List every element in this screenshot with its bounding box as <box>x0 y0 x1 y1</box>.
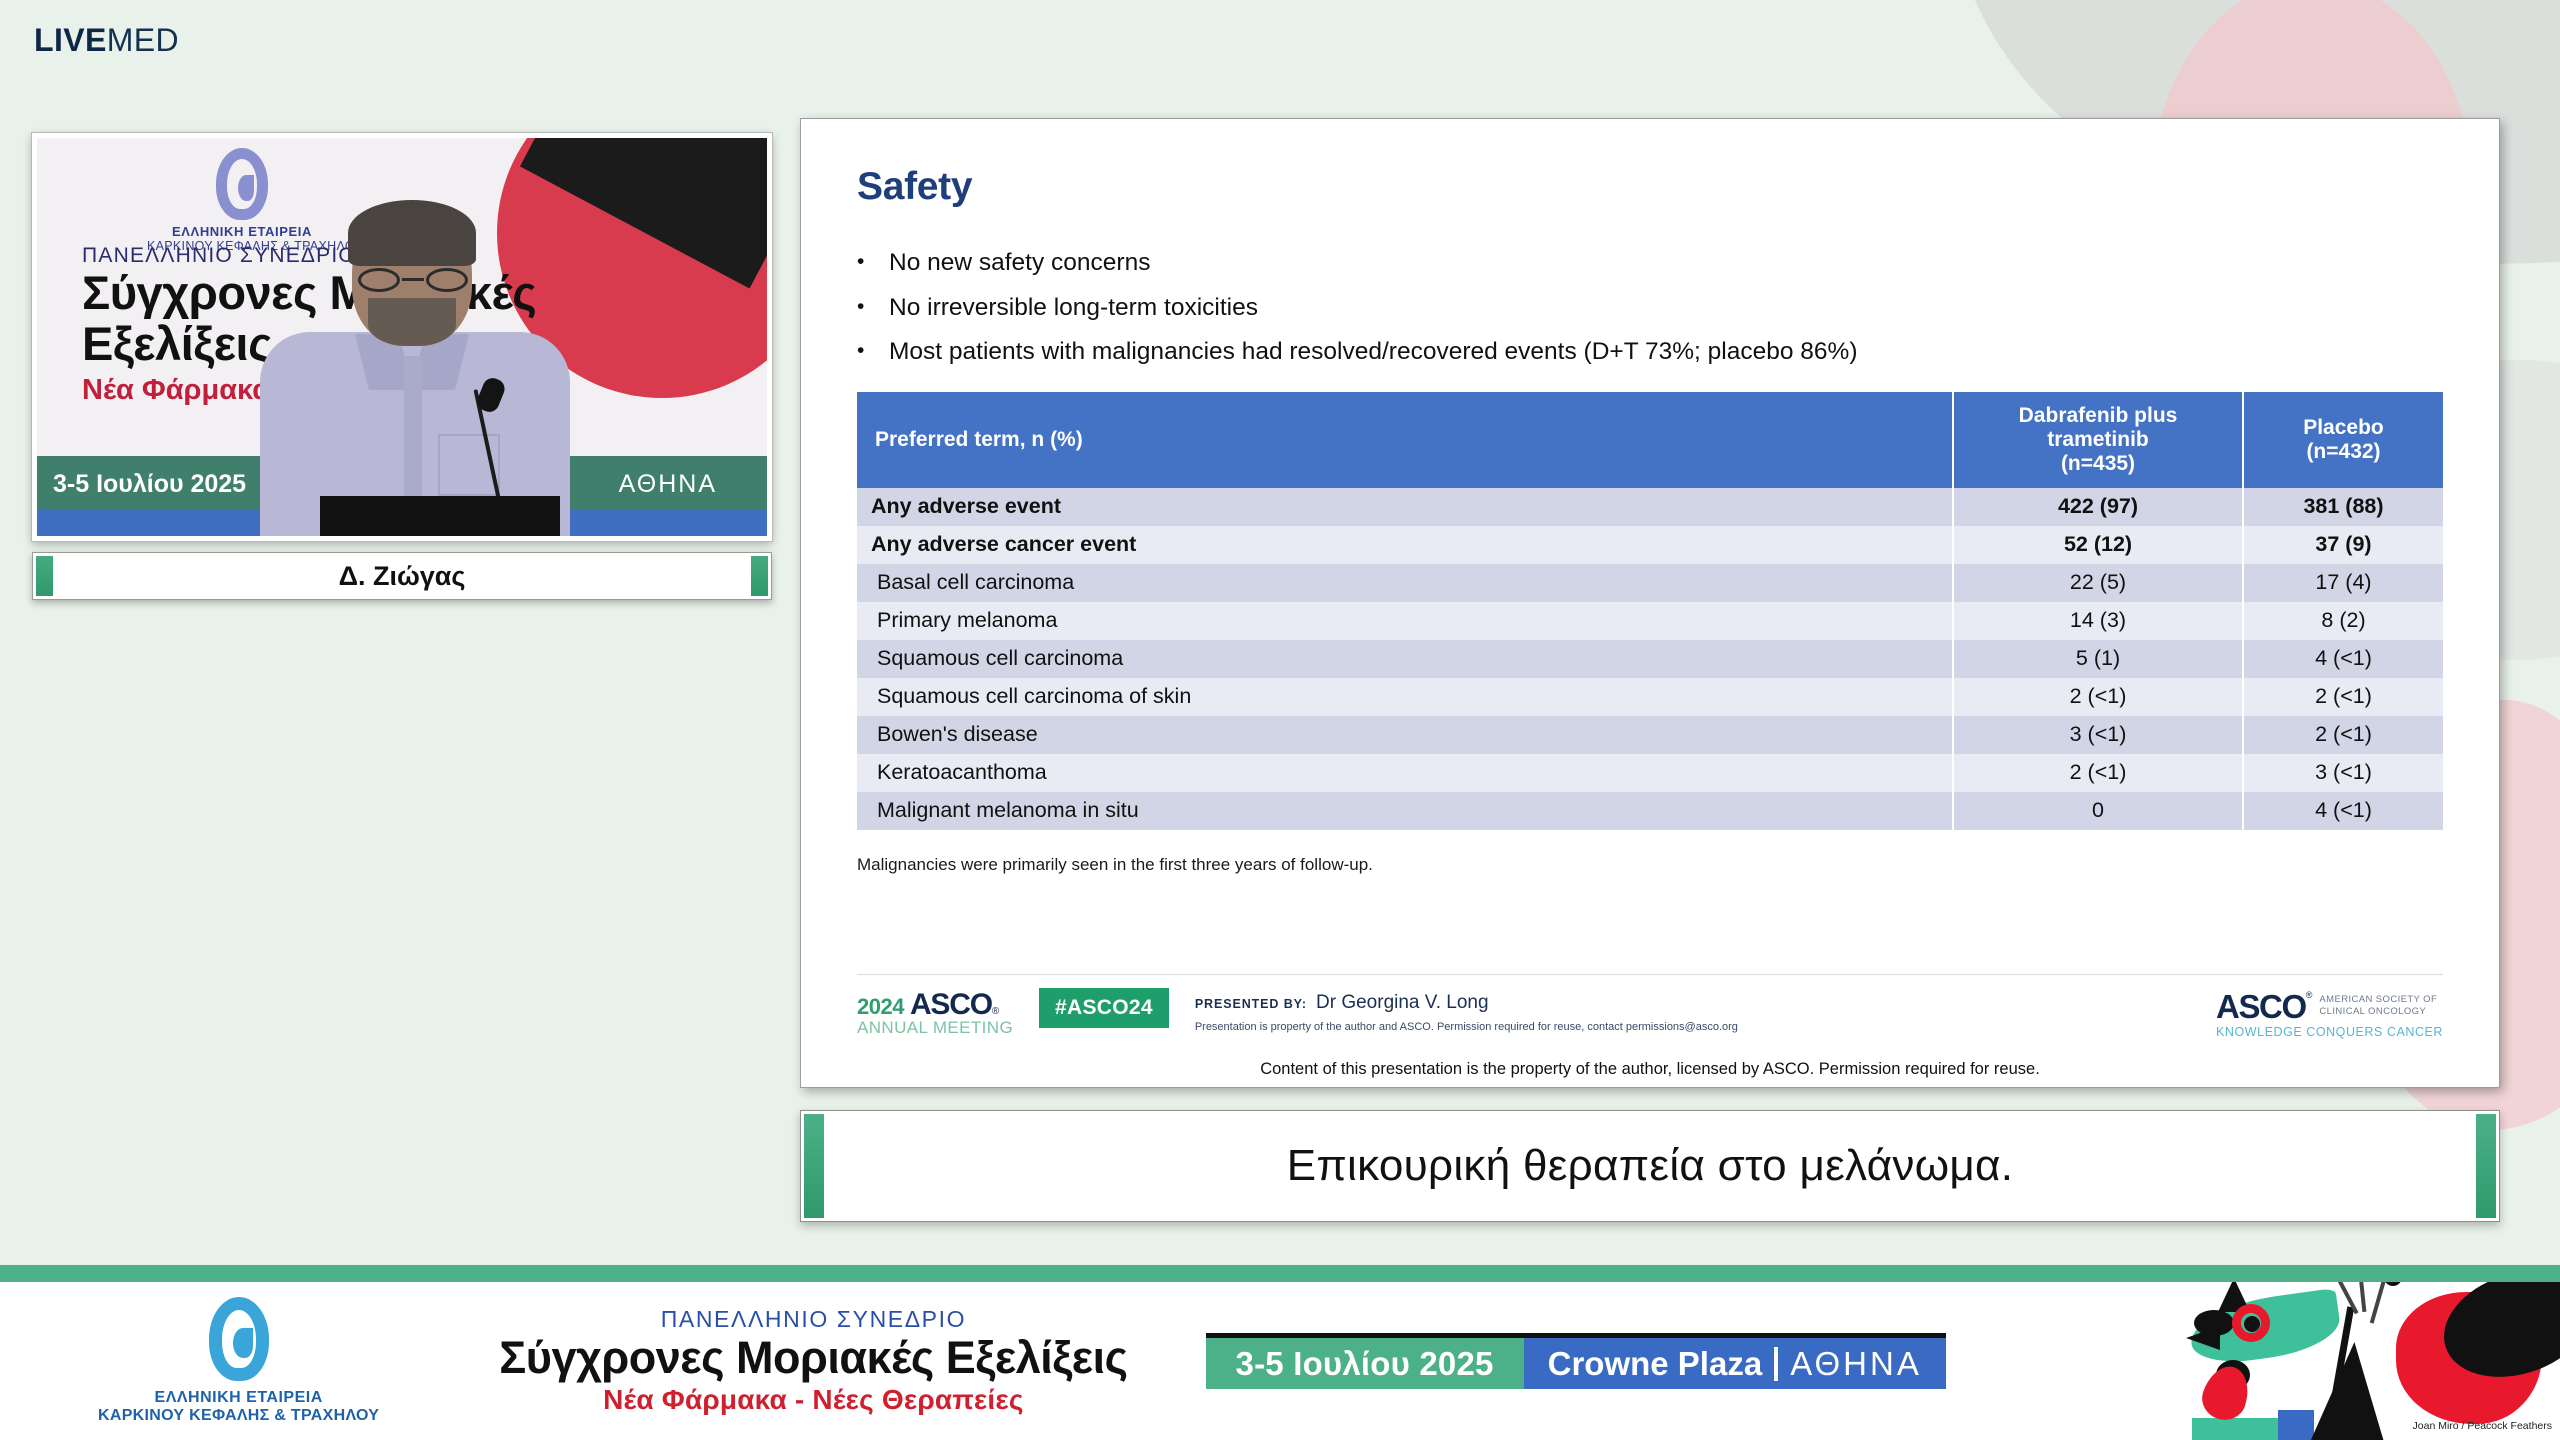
banner-date: 3-5 Ιουλίου 2025 <box>1206 1338 1524 1389</box>
safety-table-body: Any adverse event422 (97)381 (88)Any adv… <box>857 488 2443 830</box>
artwork-antenna <box>2370 1282 2387 1324</box>
session-caption-bar: Επικουρική θεραπεία στο μελάνωμα. <box>800 1110 2500 1222</box>
artwork-antenna <box>2358 1282 2367 1312</box>
speaker-name-accent-left <box>36 556 53 596</box>
table-cell-treatment-arm: 22 (5) <box>1953 564 2243 602</box>
table-cell-placebo: 381 (88) <box>2243 488 2443 526</box>
table-header-treatment-arm: Dabrafenib plus trametinib (n=435) <box>1953 392 2243 488</box>
bullet-marker-icon: • <box>857 340 889 365</box>
artwork-bird-eye-inner <box>2244 1316 2260 1332</box>
table-cell-placebo: 2 (<1) <box>2243 678 2443 716</box>
table-header-term: Preferred term, n (%) <box>857 392 1953 488</box>
banner-venue-city: ΑΘΗΝΑ <box>1790 1345 1922 1383</box>
speaker-video-feed[interactable]: ΕΛΛΗΝΙΚΗ ΕΤΑΙΡΕΙΑ ΚΑΡΚΙΝΟΥ ΚΕΦΑΛΗΣ & ΤΡΑ… <box>32 133 772 541</box>
table-header-placebo-line2: (n=432) <box>2258 440 2429 464</box>
table-cell-term: Basal cell carcinoma <box>857 564 1953 602</box>
bullet-item: • Most patients with malignancies had re… <box>857 340 2443 365</box>
asco-society-name: AMERICAN SOCIETY OF CLINICAL ONCOLOGY <box>2319 994 2437 1018</box>
asco-society-logo: ASCO ® AMERICAN SOCIETY OF CLINICAL ONCO… <box>2216 988 2443 1039</box>
artwork-credit: Joan Miro / Peacock Feathers <box>2413 1420 2552 1432</box>
table-cell-treatment-arm: 3 (<1) <box>1953 716 2243 754</box>
backdrop-date: 3-5 Ιουλίου 2025 <box>37 470 246 499</box>
banner-venue-separator <box>1774 1347 1778 1381</box>
table-header-arm-line2: (n=435) <box>1968 452 2228 476</box>
livemed-logo[interactable]: LIVEMED <box>34 22 179 59</box>
speaker-name-accent-right <box>751 556 768 596</box>
conference-banner: ΕΛΛΗΝΙΚΗ ΕΤΑΙΡΕΙΑ ΚΑΡΚΙΝΟΥ ΚΕΦΑΛΗΣ & ΤΡΑ… <box>0 1265 2560 1440</box>
speaker-name-box: Δ. Ζιώγας <box>32 552 772 600</box>
banner-congress-text: ΠΑΝΕΛΛΗΝΙΟ ΣΥΝΕΔΡΙΟ Σύγχρονες Μοριακές Ε… <box>499 1306 1127 1415</box>
asco-meeting-registered-icon: ® <box>992 1006 999 1017</box>
caption-accent-left <box>804 1114 824 1218</box>
table-row: Keratoacanthoma2 (<1)3 (<1) <box>857 754 2443 792</box>
table-row: Any adverse event422 (97)381 (88) <box>857 488 2443 526</box>
livemed-logo-live: LIVE <box>34 22 107 58</box>
banner-artwork: Joan Miro / Peacock Feathers <box>2160 1282 2560 1440</box>
asco-meeting-subtitle: ANNUAL MEETING <box>857 1018 1017 1038</box>
asco-wordmark: ASCO <box>2216 990 2306 1023</box>
speaker-panel: ΕΛΛΗΝΙΚΗ ΕΤΑΙΡΕΙΑ ΚΑΡΚΙΝΟΥ ΚΕΦΑΛΗΣ & ΤΡΑ… <box>32 133 772 600</box>
table-row: Malignant melanoma in situ04 (<1) <box>857 792 2443 830</box>
table-row: Primary melanoma14 (3)8 (2) <box>857 602 2443 640</box>
banner-society-line2: ΚΑΡΚΙΝΟΥ ΚΕΦΑΛΗΣ & ΤΡΑΧΗΛΟΥ <box>98 1407 379 1425</box>
speaker-name: Δ. Ζιώγας <box>33 561 771 592</box>
banner-congress-label: ΠΑΝΕΛΛΗΝΙΟ ΣΥΝΕΔΡΙΟ <box>499 1306 1127 1333</box>
asco-society-line2: CLINICAL ONCOLOGY <box>2319 1006 2426 1017</box>
table-cell-placebo: 3 (<1) <box>2243 754 2443 792</box>
bullet-text: No new safety concerns <box>889 251 2443 276</box>
banner-date-venue: 3-5 Ιουλίου 2025 Crowne Plaza ΑΘΗΝΑ <box>1206 1333 1946 1389</box>
asco-annual-meeting-logo: 2024 ASCO ® ANNUAL MEETING <box>857 988 1017 1038</box>
table-cell-treatment-arm: 14 (3) <box>1953 602 2243 640</box>
permission-notice: Presentation is property of the author a… <box>1195 1021 1738 1033</box>
speaker-hair <box>348 200 476 266</box>
table-cell-term: Any adverse event <box>857 488 1953 526</box>
bullet-text: No irreversible long-term toxicities <box>889 296 2443 321</box>
artwork-dot <box>2384 1282 2402 1286</box>
banner-subtitle: Νέα Φάρμακα - Νέες Θεραπείες <box>499 1384 1127 1416</box>
table-cell-term: Squamous cell carcinoma <box>857 640 1953 678</box>
asco-meeting-wordmark: ASCO <box>910 988 992 1022</box>
table-cell-placebo: 37 (9) <box>2243 526 2443 564</box>
table-row: Any adverse cancer event52 (12)37 (9) <box>857 526 2443 564</box>
bullet-item: • No new safety concerns <box>857 251 2443 276</box>
artwork-blue-block <box>2278 1410 2314 1440</box>
bullet-marker-icon: • <box>857 296 889 321</box>
table-cell-placebo: 2 (<1) <box>2243 716 2443 754</box>
table-row: Squamous cell carcinoma5 (1)4 (<1) <box>857 640 2443 678</box>
table-cell-placebo: 8 (2) <box>2243 602 2443 640</box>
table-cell-treatment-arm: 5 (1) <box>1953 640 2243 678</box>
presenter-block: PRESENTED BY: Dr Georgina V. Long Presen… <box>1195 988 1738 1033</box>
table-header-arm-line1: Dabrafenib plus trametinib <box>1968 404 2228 452</box>
table-header-placebo: Placebo (n=432) <box>2243 392 2443 488</box>
slide-copyright: Content of this presentation is the prop… <box>801 1060 2499 1079</box>
table-row: Squamous cell carcinoma of skin2 (<1)2 (… <box>857 678 2443 716</box>
table-footnote: Malignancies were primarily seen in the … <box>857 855 2443 875</box>
table-cell-placebo: 4 (<1) <box>2243 640 2443 678</box>
table-cell-term: Primary melanoma <box>857 602 1953 640</box>
banner-society-logo: ΕΛΛΗΝΙΚΗ ΕΤΑΙΡΕΙΑ ΚΑΡΚΙΝΟΥ ΚΕΦΑΛΗΣ & ΤΡΑ… <box>98 1297 379 1425</box>
presentation-slide[interactable]: Safety • No new safety concerns • No irr… <box>800 118 2500 1088</box>
bullet-item: • No irreversible long-term toxicities <box>857 296 2443 321</box>
laptop <box>320 496 560 536</box>
table-cell-treatment-arm: 2 (<1) <box>1953 678 2243 716</box>
banner-title: Σύγχρονες Μοριακές Εξελίξεις <box>499 1333 1127 1383</box>
asco-tagline: KNOWLEDGE CONQUERS CANCER <box>2216 1025 2443 1039</box>
artwork-green-block <box>2192 1418 2280 1440</box>
speaker-beard <box>368 298 456 346</box>
table-row: Basal cell carcinoma22 (5)17 (4) <box>857 564 2443 602</box>
table-cell-term: Bowen's disease <box>857 716 1953 754</box>
artwork-bird-beak <box>2186 1326 2220 1350</box>
table-cell-term: Squamous cell carcinoma of skin <box>857 678 1953 716</box>
livemed-logo-med: MED <box>107 22 179 58</box>
caption-text: Επικουρική θεραπεία στο μελάνωμα. <box>801 1141 2499 1191</box>
table-cell-treatment-arm: 422 (97) <box>1953 488 2243 526</box>
slide-footer: 2024 ASCO ® ANNUAL MEETING #ASCO24 PRESE… <box>857 974 2443 1039</box>
slide-bullet-list: • No new safety concerns • No irreversib… <box>857 251 2443 365</box>
banner-venue-name: Crowne Plaza <box>1548 1345 1763 1383</box>
speaker-figure <box>232 206 592 536</box>
table-cell-placebo: 4 (<1) <box>2243 792 2443 830</box>
table-header-row: Preferred term, n (%) Dabrafenib plus tr… <box>857 392 2443 488</box>
table-header-placebo-line1: Placebo <box>2258 416 2429 440</box>
artwork-dark-wedge <box>2310 1342 2384 1440</box>
table-cell-treatment-arm: 52 (12) <box>1953 526 2243 564</box>
table-row: Bowen's disease3 (<1)2 (<1) <box>857 716 2443 754</box>
table-cell-treatment-arm: 2 (<1) <box>1953 754 2243 792</box>
asco-society-line1: AMERICAN SOCIETY OF <box>2319 994 2437 1005</box>
banner-society-line1: ΕΛΛΗΝΙΚΗ ΕΤΑΙΡΕΙΑ <box>155 1389 323 1407</box>
asco-hashtag-badge: #ASCO24 <box>1039 988 1169 1028</box>
asco-meeting-year: 2024 <box>857 994 904 1020</box>
presenter-name: Dr Georgina V. Long <box>1316 992 1489 1014</box>
presented-by-label: PRESENTED BY: <box>1195 997 1307 1011</box>
asco-registered-icon: ® <box>2306 990 2313 1000</box>
safety-table: Preferred term, n (%) Dabrafenib plus tr… <box>857 392 2443 830</box>
backdrop-city: ΑΘΗΝΑ <box>619 470 767 499</box>
banner-venue: Crowne Plaza ΑΘΗΝΑ <box>1524 1338 1946 1389</box>
table-cell-term: Keratoacanthoma <box>857 754 1953 792</box>
ribbon-icon <box>209 1297 269 1381</box>
table-cell-term: Malignant melanoma in situ <box>857 792 1953 830</box>
bullet-marker-icon: • <box>857 251 889 276</box>
table-cell-treatment-arm: 0 <box>1953 792 2243 830</box>
bullet-text: Most patients with malignancies had reso… <box>889 340 2443 365</box>
slide-title: Safety <box>857 165 2443 209</box>
caption-accent-right <box>2476 1114 2496 1218</box>
glasses-icon <box>358 268 468 292</box>
table-cell-placebo: 17 (4) <box>2243 564 2443 602</box>
table-cell-term: Any adverse cancer event <box>857 526 1953 564</box>
